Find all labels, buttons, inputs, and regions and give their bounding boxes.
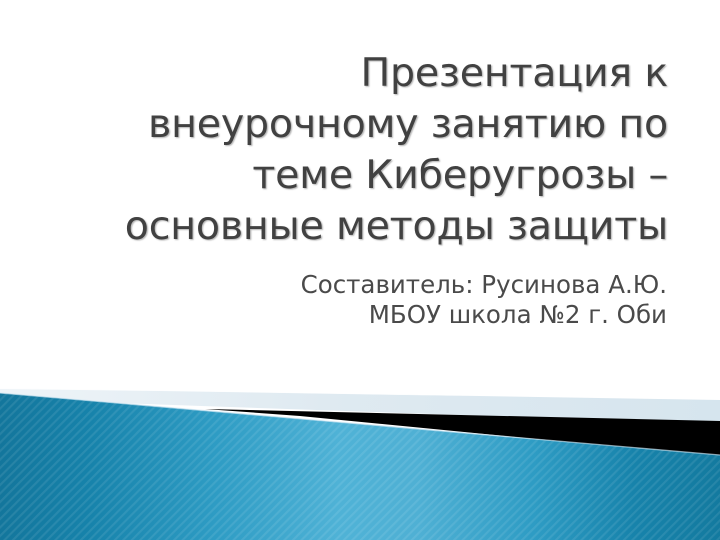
black-wedge-shape	[205, 409, 720, 457]
subtitle-wrapper: Составитель: Русинова А.Ю. МБОУ школа №2…	[52, 270, 668, 330]
band-top-highlight	[0, 393, 720, 455]
band-texture	[0, 380, 720, 540]
slide-subtitle: Составитель: Русинова А.Ю. МБОУ школа №2…	[52, 270, 667, 330]
presentation-slide: Презентация к внеурочному занятию по тем…	[0, 0, 720, 540]
pale-wedge-shape	[0, 388, 720, 424]
slide-text-block: Презентация к внеурочному занятию по тем…	[52, 48, 668, 330]
page-title: Презентация к внеурочному занятию по тем…	[52, 48, 668, 252]
white-sliver-shape	[0, 386, 470, 396]
teal-band-shape	[0, 393, 720, 540]
